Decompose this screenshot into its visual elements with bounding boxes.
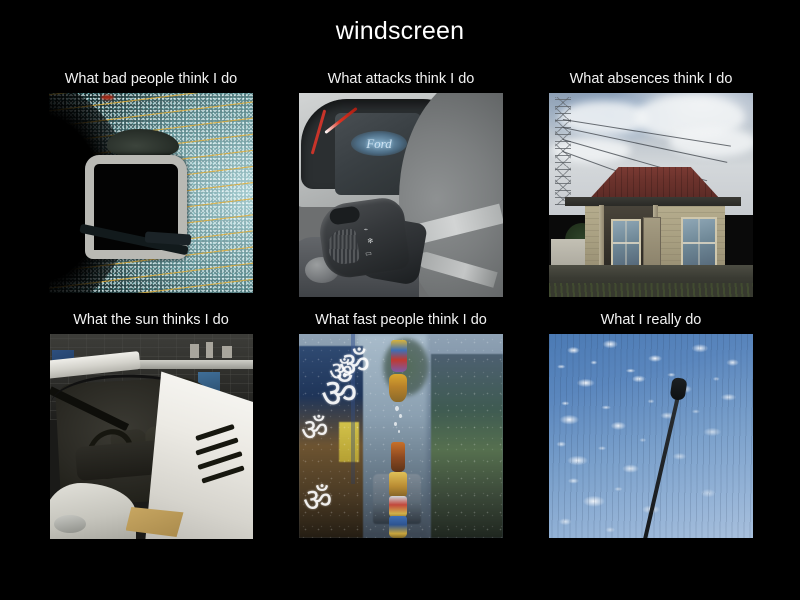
meme-cell-6: What I really do [549,311,753,539]
shelf-bottle-1 [190,344,199,358]
water-drop-1 [395,406,399,411]
window-left [611,219,641,267]
deity-decal-6 [389,516,407,538]
grass-verge [549,283,753,297]
ford-logo: Ford [351,131,407,156]
meme-cell-4: What the sun thinks I do [49,311,253,539]
shelf-bottle-2 [206,342,213,358]
meme-cell-2: What attacks think I do Ford [299,70,503,297]
window-right [681,217,717,269]
panel-image-car-dashboard: Ford ⌁ ✻ [299,93,503,297]
panel-image-mackerel-sky [549,334,753,538]
panel-caption-6: What I really do [601,311,702,334]
page-title: windscreen [0,16,800,46]
deity-decal-3 [391,442,405,472]
panel-caption-4: What the sun thinks I do [73,311,229,334]
panel-caption-1: What bad people think I do [65,70,238,93]
water-drop-3 [394,422,397,426]
panel-caption-2: What attacks think I do [328,70,475,93]
panel-caption-3: What absences think I do [570,70,733,93]
rear-wiper-symbol-icon: ▭ [365,250,373,259]
front-door [643,217,661,271]
panel-image-shattered-windscreen [49,93,253,293]
window-right-mullions [683,219,715,267]
deity-decal-4 [389,472,407,498]
washer-symbol-icon: ✻ [367,238,374,247]
panel-image-windscreen-removal [50,334,253,539]
meme-page: windscreen What bad people think I do [0,0,800,600]
meme-cell-5: What fast people think I do ॐ ॐ ॐ ॐ ॐ [299,311,503,539]
om-symbol-icon-4: ॐ [303,478,332,521]
workbench-shelf [132,360,253,369]
meme-row-1: What bad people think I do What attacks … [0,70,800,297]
meme-grid: What bad people think I do What attacks … [0,70,800,539]
shelf-bottle-3 [222,346,232,358]
headlight [54,515,86,533]
water-drop-4 [398,430,400,433]
porch-column-left [599,205,604,273]
meme-row-2: What the sun thinks I do [0,311,800,539]
window-left-mullions [613,221,639,265]
stalk-rotary-ring [326,228,360,266]
taillight-reflection [101,95,114,100]
deity-decal-5 [389,496,407,518]
wiper-symbol-icon: ⌁ [363,226,368,235]
om-symbol-icon-5: ॐ [329,352,353,388]
om-symbol-icon-3: ॐ [301,408,328,449]
stalk-tip [329,205,361,225]
panel-image-deity-decals: ॐ ॐ ॐ ॐ ॐ [299,334,503,538]
meme-cell-1: What bad people think I do [49,70,253,297]
panel-caption-5: What fast people think I do [315,311,487,334]
meme-cell-3: What absences think I do [549,70,753,297]
panel-image-old-house [549,93,753,297]
water-drop-2 [399,414,402,418]
deity-decal-1 [391,340,407,372]
deity-decal-2 [389,374,407,402]
